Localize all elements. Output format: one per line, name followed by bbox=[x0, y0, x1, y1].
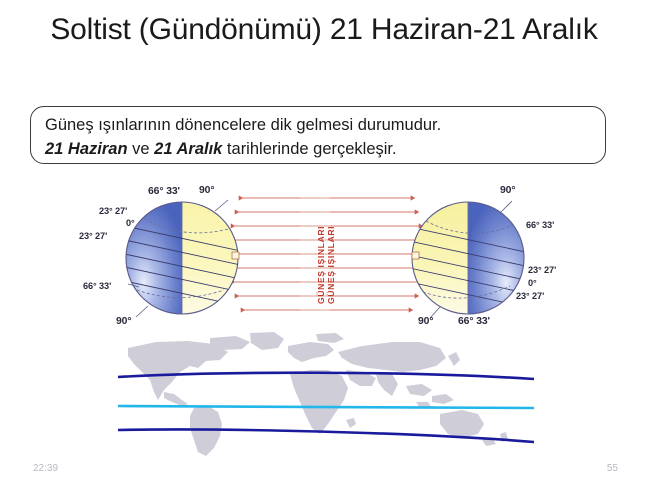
date-december: 21 Aralık bbox=[154, 140, 222, 158]
right-globe-graphic bbox=[400, 201, 530, 318]
left-label-lower-tropic: 23° 27' bbox=[79, 231, 107, 241]
definition-callout-box: Güneş ışınlarının dönencelere dik gelmes… bbox=[30, 106, 606, 164]
left-label-bottom-pole: 90° bbox=[116, 316, 131, 327]
right-label-upper-circle: 66° 33' bbox=[526, 220, 554, 230]
sun-rays-caption-front: GÜNEŞ IŞINLARI bbox=[316, 226, 326, 304]
left-label-lower-circle: 66° 33' bbox=[83, 281, 111, 291]
left-globe-graphic bbox=[120, 200, 250, 317]
right-label-equator: 0° bbox=[528, 278, 537, 288]
left-label-top-outer: 90° bbox=[199, 185, 214, 196]
footer-time: 22:39 bbox=[33, 463, 58, 474]
right-label-top-outer: 90° bbox=[500, 185, 515, 196]
definition-text: Güneş ışınlarının dönencelere dik gelmes… bbox=[45, 113, 595, 161]
definition-tail: tarihlerinde gerçekleşir. bbox=[222, 140, 396, 158]
slide-canvas: Soltist (Gündönümü) 21 Haziran-21 Aralık… bbox=[0, 0, 648, 486]
world-map bbox=[110, 330, 540, 460]
right-label-bottom-pole: 90° bbox=[418, 316, 433, 327]
right-label-lower-tropic: 23° 27' bbox=[516, 291, 544, 301]
sun-rays-right bbox=[330, 198, 423, 310]
world-map-svg bbox=[110, 330, 540, 460]
left-label-top-inner: 66° 33' bbox=[148, 186, 180, 197]
equator-line bbox=[118, 406, 534, 408]
conjunction: ve bbox=[128, 140, 155, 158]
solstice-diagram: 66° 33' 90° 23° 27' 0° 23° 27' 66° 33' 9… bbox=[0, 176, 648, 336]
footer-page-number: 55 bbox=[607, 463, 618, 474]
right-label-upper-tropic: 23° 27' bbox=[528, 265, 556, 275]
definition-line-1: Güneş ışınlarının dönencelere dik gelmes… bbox=[45, 116, 441, 134]
sun-rays-caption-back: GÜNEŞ IŞINLARI bbox=[326, 226, 336, 304]
page-title: Soltist (Gündönümü) 21 Haziran-21 Aralık bbox=[20, 12, 628, 48]
right-label-bottom-inner: 66° 33' bbox=[458, 316, 490, 327]
left-label-equator: 0° bbox=[126, 218, 135, 228]
left-label-upper-tropic: 23° 27' bbox=[99, 206, 127, 216]
date-june: 21 Haziran bbox=[45, 140, 128, 158]
